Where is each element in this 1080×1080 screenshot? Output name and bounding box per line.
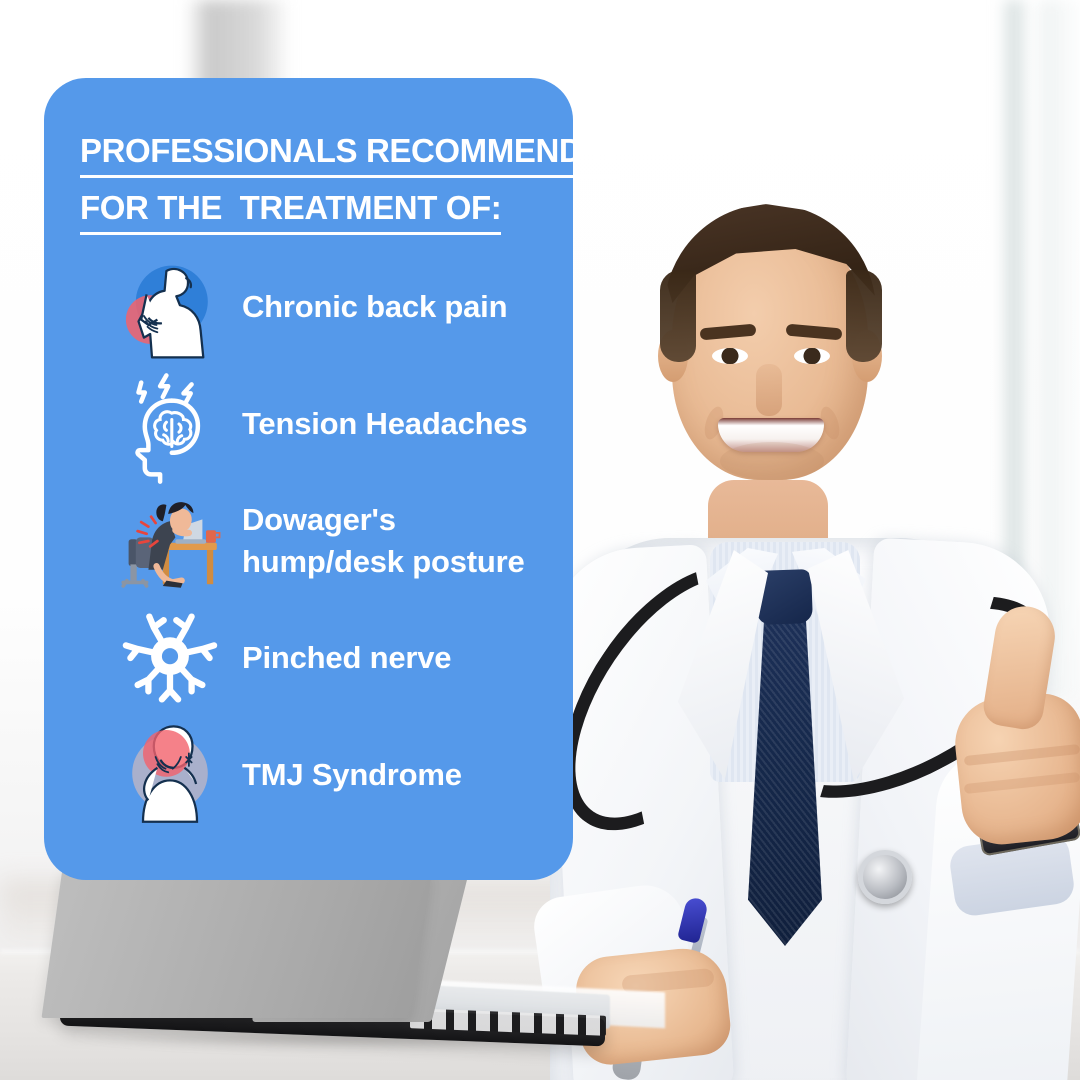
panel-heading-line-1: PROFESSIONALS RECOMMEND IT	[80, 130, 620, 178]
list-item: Pinched nerve	[44, 599, 573, 716]
list-item-label: TMJ Syndrome	[242, 753, 555, 795]
laptop-lid	[41, 868, 432, 1018]
list-item-label: Tension Headaches	[242, 402, 555, 444]
head-brain-lightning-icon	[116, 370, 224, 478]
panel-heading-line-2: FOR THE TREATMENT OF:	[80, 187, 501, 235]
list-item-label: Pinched nerve	[242, 636, 555, 678]
list-item-label-line1: Dowager's hump/desk posture	[242, 501, 525, 578]
info-panel: PROFESSIONALS RECOMMEND IT FOR THE TREAT…	[44, 78, 573, 880]
list-item: Chronic back pain	[44, 248, 573, 365]
nose	[756, 364, 782, 416]
eye-right	[794, 348, 830, 364]
pen-cap	[677, 896, 709, 944]
stethoscope-chestpiece	[858, 850, 912, 904]
back-pain-icon	[116, 253, 224, 361]
panel-heading: PROFESSIONALS RECOMMEND IT FOR THE TREAT…	[80, 130, 553, 235]
neuron-icon	[116, 604, 224, 712]
list-item: Dowager's hump/desk posture	[44, 482, 573, 599]
eye-left	[712, 348, 748, 364]
laptop	[20, 868, 620, 1058]
list-item: TMJ Syndrome	[44, 716, 573, 833]
list-item-label: Dowager's hump/desk posture	[242, 498, 555, 582]
list-item-label: Chronic back pain	[242, 285, 555, 327]
condition-list: Chronic back pain	[44, 248, 573, 833]
desk-posture-icon	[116, 487, 224, 595]
chin-shadow	[720, 442, 824, 480]
jaw-pain-icon	[116, 721, 224, 829]
hair-sideburn-left	[660, 270, 696, 362]
hair-sideburn-right	[846, 270, 882, 362]
list-item: Tension Headaches	[44, 365, 573, 482]
poster-canvas: PROFESSIONALS RECOMMEND IT FOR THE TREAT…	[0, 0, 1080, 1080]
